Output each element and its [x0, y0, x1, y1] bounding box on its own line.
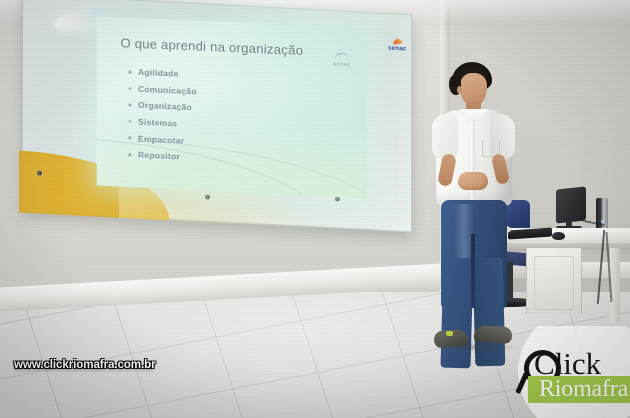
bullet-dot-icon	[128, 137, 131, 140]
senac-flare-icon	[392, 38, 402, 44]
bullet-label: Empacotar	[138, 133, 184, 145]
mount-screw	[205, 194, 210, 199]
senac-logo-label: senac	[333, 61, 351, 68]
bullet-dot-icon	[128, 153, 131, 156]
senac-logo-whiteboard: senac	[388, 39, 407, 53]
senac-logo-label: senac	[388, 45, 407, 53]
bullet-label: Organização	[138, 100, 192, 112]
slide-bullet-list: Agilidade Comunicação Organização Sistem…	[128, 64, 328, 173]
url-watermark: www.clickriomafra.com.br	[14, 358, 156, 371]
desk-panel-inset	[534, 256, 574, 310]
mouse	[552, 232, 565, 240]
bullet-label: Comunicação	[138, 84, 197, 97]
presenter-ear	[457, 86, 462, 94]
bullet-dot-icon	[128, 120, 131, 123]
logo-primary-text: Click	[534, 348, 601, 379]
presenter-sleeve-left	[432, 114, 458, 160]
bullet-label: Repositor	[138, 150, 180, 162]
bullet-dot-icon	[128, 71, 131, 74]
click-riomafra-logo[interactable]: Click Riomafra	[506, 326, 630, 418]
bullet-label: Agilidade	[138, 67, 179, 79]
presenter-leg-seam	[471, 234, 475, 308]
presenter	[424, 62, 528, 350]
mount-screw	[37, 170, 42, 175]
bullet-label: Sistemas	[138, 117, 178, 129]
presenter-shoe-accent	[446, 331, 453, 336]
desk-leg	[610, 248, 620, 322]
bullet-dot-icon	[128, 104, 131, 107]
senac-swoosh-icon	[333, 52, 350, 62]
projected-slide: O que aprendi na organização Agilidade C…	[97, 16, 367, 198]
senac-logo-slide: senac	[333, 52, 351, 68]
light-highlight-icon	[94, 9, 99, 14]
photo-canvas: senac O que aprendi na organização Agili…	[0, 0, 630, 418]
presenter-hands	[458, 172, 488, 190]
bullet-dot-icon	[128, 87, 131, 90]
speaker-led-icon	[601, 220, 604, 223]
logo-secondary-text: Riomafra	[539, 377, 628, 402]
